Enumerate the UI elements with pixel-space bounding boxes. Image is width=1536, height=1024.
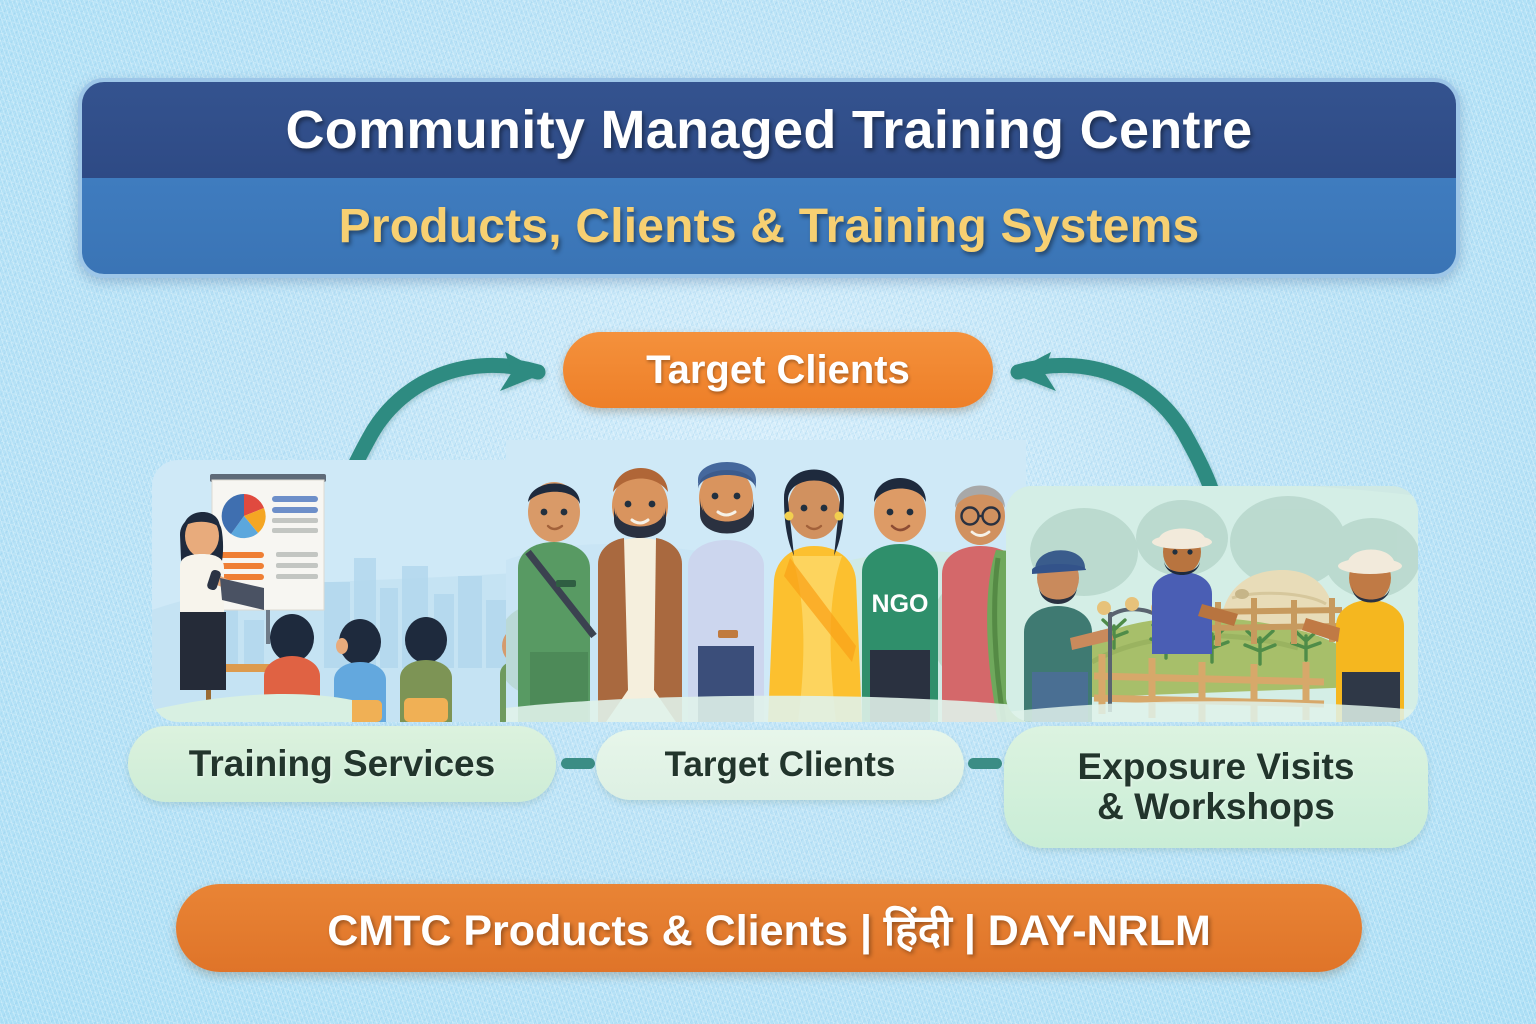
header-title-bar: Community Managed Training Centre [82, 82, 1456, 178]
connector-dash-right-a [968, 758, 1002, 769]
illustration-target-clients-group: NGO [506, 440, 1026, 722]
label-training-services: Training Services [128, 726, 556, 802]
label-target-clients-text: Target Clients [665, 746, 896, 784]
footer-text: CMTC Products & Clients | हिंदी | DAY-NR… [327, 899, 1211, 958]
page-title: Community Managed Training Centre [285, 99, 1252, 161]
header-subtitle-bar: Products, Clients & Training Systems [82, 178, 1456, 274]
label-target-clients: Target Clients [596, 730, 964, 800]
person-blue-turban [688, 462, 764, 722]
target-clients-node: Target Clients [563, 332, 993, 408]
label-exposure-line1: Exposure Visits [1078, 746, 1355, 787]
target-clients-label: Target Clients [646, 348, 910, 393]
ngo-badge-text: NGO [872, 590, 929, 618]
connector-dash-left [561, 758, 595, 769]
label-exposure-line2: & Workshops [1097, 786, 1335, 827]
label-training-services-text: Training Services [189, 744, 495, 784]
header-banner: Community Managed Training Centre Produc… [78, 78, 1460, 278]
infographic-canvas: Community Managed Training Centre Produc… [0, 0, 1536, 1024]
label-exposure-visits: Exposure Visits & Workshops [1004, 726, 1428, 848]
page-subtitle: Products, Clients & Training Systems [339, 199, 1200, 254]
footer-banner: CMTC Products & Clients | हिंदी | DAY-NR… [176, 884, 1362, 972]
illustration-training-services [152, 460, 530, 722]
pie-chart [222, 494, 266, 538]
illustration-exposure-visits [1006, 486, 1418, 722]
